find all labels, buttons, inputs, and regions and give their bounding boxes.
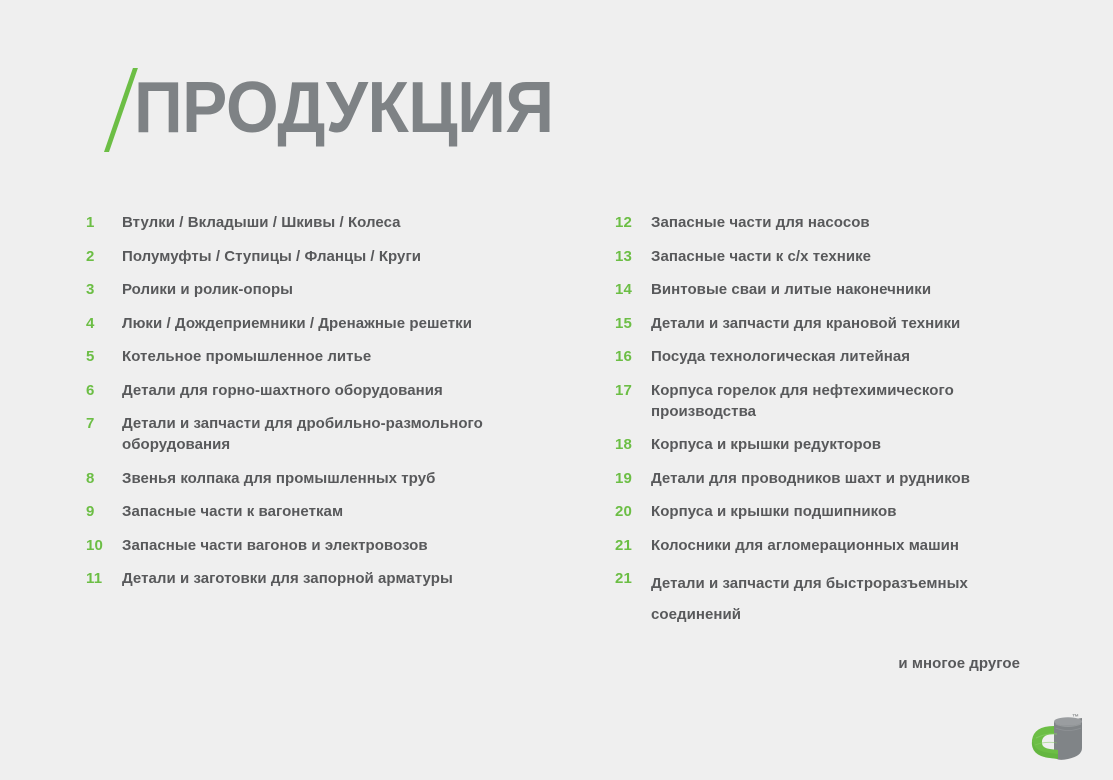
product-item-number: 13 bbox=[615, 246, 651, 267]
product-item-number: 17 bbox=[615, 380, 651, 401]
product-list-item: 5Котельное промышленное литье bbox=[86, 346, 556, 367]
product-item-number: 12 bbox=[615, 212, 651, 233]
product-list-item: 21Колосники для агломерационных машин bbox=[615, 535, 1045, 556]
product-list-item: 9Запасные части к вагонеткам bbox=[86, 501, 556, 522]
product-item-number: 19 bbox=[615, 468, 651, 489]
product-list-item: 13Запасные части к с/х технике bbox=[615, 246, 1045, 267]
product-list-item: 1Втулки / Вкладыши / Шкивы / Колеса bbox=[86, 212, 556, 233]
product-item-label: Детали для горно-шахтного оборудования bbox=[122, 380, 556, 401]
product-list-item: 2Полумуфты / Ступицы / Фланцы / Круги bbox=[86, 246, 556, 267]
product-list-column-left: 1Втулки / Вкладыши / Шкивы / Колеса2Полу… bbox=[86, 212, 556, 602]
product-item-number: 18 bbox=[615, 434, 651, 455]
product-list-item: 15Детали и запчасти для крановой техники bbox=[615, 313, 1045, 334]
product-item-label: Запасные части для насосов bbox=[651, 212, 1045, 233]
product-list-item: 16Посуда технологическая литейная bbox=[615, 346, 1045, 367]
product-item-label: Запасные части вагонов и электровозов bbox=[122, 535, 556, 556]
product-list-item: 4Люки / Дождеприемники / Дренажные решет… bbox=[86, 313, 556, 334]
product-item-label: Корпуса и крышки подшипников bbox=[651, 501, 1045, 522]
product-item-label: Люки / Дождеприемники / Дренажные решетк… bbox=[122, 313, 556, 334]
page-title: ПРОДУКЦИЯ bbox=[88, 60, 580, 156]
company-logo-mark bbox=[1024, 712, 1096, 770]
product-item-number: 21 bbox=[615, 568, 651, 589]
product-item-label: Детали для проводников шахт и рудников bbox=[651, 468, 1045, 489]
product-list-item: 17Корпуса горелок для нефтехимического п… bbox=[615, 380, 1045, 422]
product-list-item: 10Запасные части вагонов и электровозов bbox=[86, 535, 556, 556]
product-item-number: 5 bbox=[86, 346, 122, 367]
product-list-item: 12Запасные части для насосов bbox=[615, 212, 1045, 233]
product-item-number: 2 bbox=[86, 246, 122, 267]
product-item-number: 15 bbox=[615, 313, 651, 334]
product-list-item: 18Корпуса и крышки редукторов bbox=[615, 434, 1045, 455]
product-item-number: 16 bbox=[615, 346, 651, 367]
product-item-label: Полумуфты / Ступицы / Фланцы / Круги bbox=[122, 246, 556, 267]
product-item-number: 3 bbox=[86, 279, 122, 300]
product-list-item: 20Корпуса и крышки подшипников bbox=[615, 501, 1045, 522]
product-item-number: 8 bbox=[86, 468, 122, 489]
product-item-label: Детали и запчасти для быстроразъемных со… bbox=[651, 568, 1045, 630]
product-item-label: Корпуса горелок для нефтехимического про… bbox=[651, 380, 1045, 422]
product-item-number: 14 bbox=[615, 279, 651, 300]
product-item-number: 11 bbox=[86, 568, 122, 589]
product-list-item: 14Винтовые сваи и литые наконечники bbox=[615, 279, 1045, 300]
product-list-item: 21Детали и запчасти для быстроразъемных … bbox=[615, 568, 1045, 630]
product-item-label: Детали и запчасти для дробильно-размольн… bbox=[122, 413, 556, 455]
product-item-label: Корпуса и крышки редукторов bbox=[651, 434, 1045, 455]
product-list-column-right: 12Запасные части для насосов13Запасные ч… bbox=[615, 212, 1045, 643]
product-item-label: Запасные части к вагонеткам bbox=[122, 501, 556, 522]
product-item-label: Котельное промышленное литье bbox=[122, 346, 556, 367]
product-list-item: 6Детали для горно-шахтного оборудования bbox=[86, 380, 556, 401]
product-item-label: Детали и запчасти для крановой техники bbox=[651, 313, 1045, 334]
product-item-number: 6 bbox=[86, 380, 122, 401]
product-item-number: 7 bbox=[86, 413, 122, 434]
product-item-number: 10 bbox=[86, 535, 122, 556]
product-item-label: Ролики и ролик-опоры bbox=[122, 279, 556, 300]
product-list-item: 8Звенья колпака для промышленных труб bbox=[86, 468, 556, 489]
company-logo: ™ bbox=[1024, 712, 1096, 770]
page-title-text: ПРОДУКЦИЯ bbox=[134, 72, 554, 144]
product-list-item: 19Детали для проводников шахт и рудников bbox=[615, 468, 1045, 489]
product-item-label: Детали и заготовки для запорной арматуры bbox=[122, 568, 556, 589]
product-list-item: 11Детали и заготовки для запорной армату… bbox=[86, 568, 556, 589]
footer-note: и многое другое bbox=[898, 655, 1020, 672]
product-list-item: 7Детали и запчасти для дробильно-размоль… bbox=[86, 413, 556, 455]
product-item-number: 21 bbox=[615, 535, 651, 556]
product-item-label: Звенья колпака для промышленных труб bbox=[122, 468, 556, 489]
slash-accent-icon bbox=[88, 64, 128, 152]
product-item-number: 4 bbox=[86, 313, 122, 334]
product-item-number: 20 bbox=[615, 501, 651, 522]
product-item-label: Винтовые сваи и литые наконечники bbox=[651, 279, 1045, 300]
product-item-number: 9 bbox=[86, 501, 122, 522]
trademark-icon: ™ bbox=[1072, 714, 1079, 721]
product-list-item: 3Ролики и ролик-опоры bbox=[86, 279, 556, 300]
product-item-label: Втулки / Вкладыши / Шкивы / Колеса bbox=[122, 212, 556, 233]
product-item-label: Колосники для агломерационных машин bbox=[651, 535, 1045, 556]
product-item-label: Посуда технологическая литейная bbox=[651, 346, 1045, 367]
product-item-label: Запасные части к с/х технике bbox=[651, 246, 1045, 267]
product-item-number: 1 bbox=[86, 212, 122, 233]
